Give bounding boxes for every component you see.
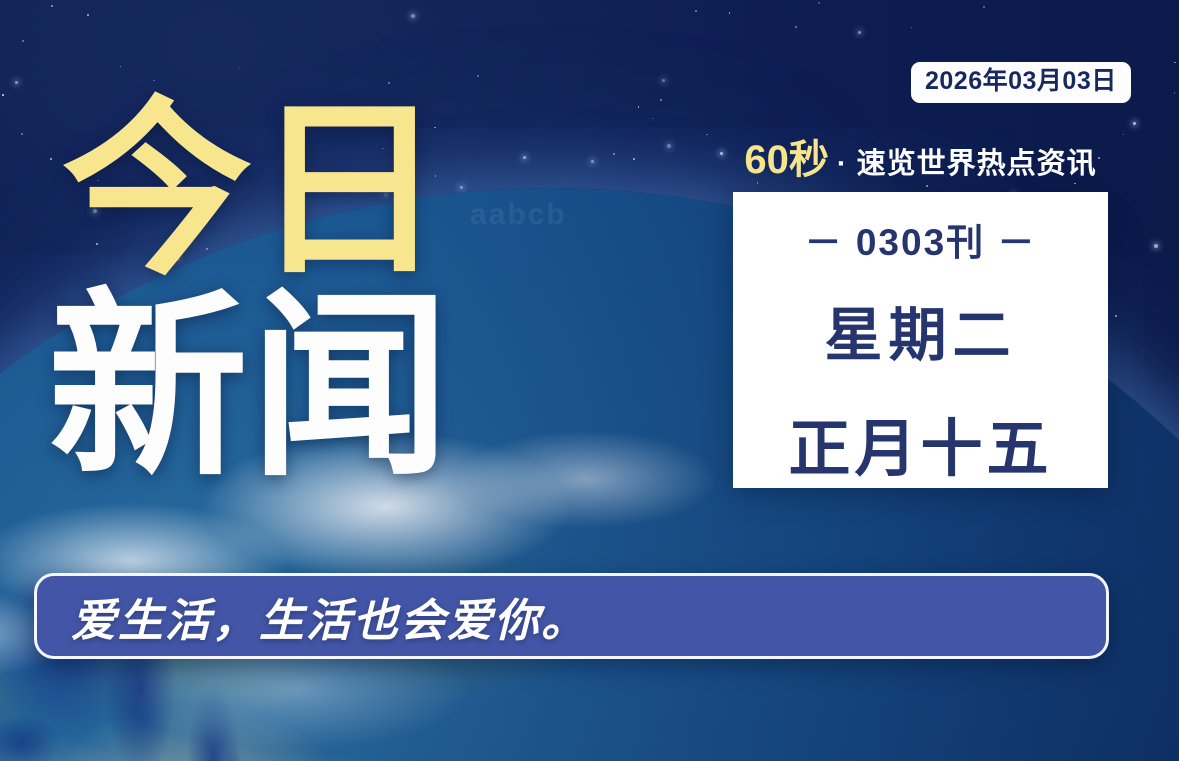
headline-today: 今日	[62, 96, 446, 286]
issue-number: － 0303刊 －	[805, 212, 1037, 266]
tagline-rest: · 速览世界热点资讯	[837, 148, 1097, 180]
quote-text: 爱生活，生活也会爱你。	[71, 584, 588, 649]
lunar-date-label: 正月十五	[788, 398, 1052, 488]
tagline: 60秒· 速览世界热点资讯	[733, 140, 1108, 180]
quote-bar: 爱生活，生活也会爱你。	[34, 573, 1109, 659]
issue-info-card: － 0303刊 － 星期二 正月十五	[733, 192, 1108, 488]
date-badge: 2026年03月03日	[911, 62, 1131, 103]
weekday-label: 星期二	[824, 288, 1016, 372]
news-poster: aabcb 今日 新闻 2026年03月03日 60秒· 速览世界热点资讯 － …	[0, 0, 1179, 761]
headline-news: 新闻	[48, 288, 452, 488]
tagline-highlight: 60秒	[744, 138, 829, 182]
